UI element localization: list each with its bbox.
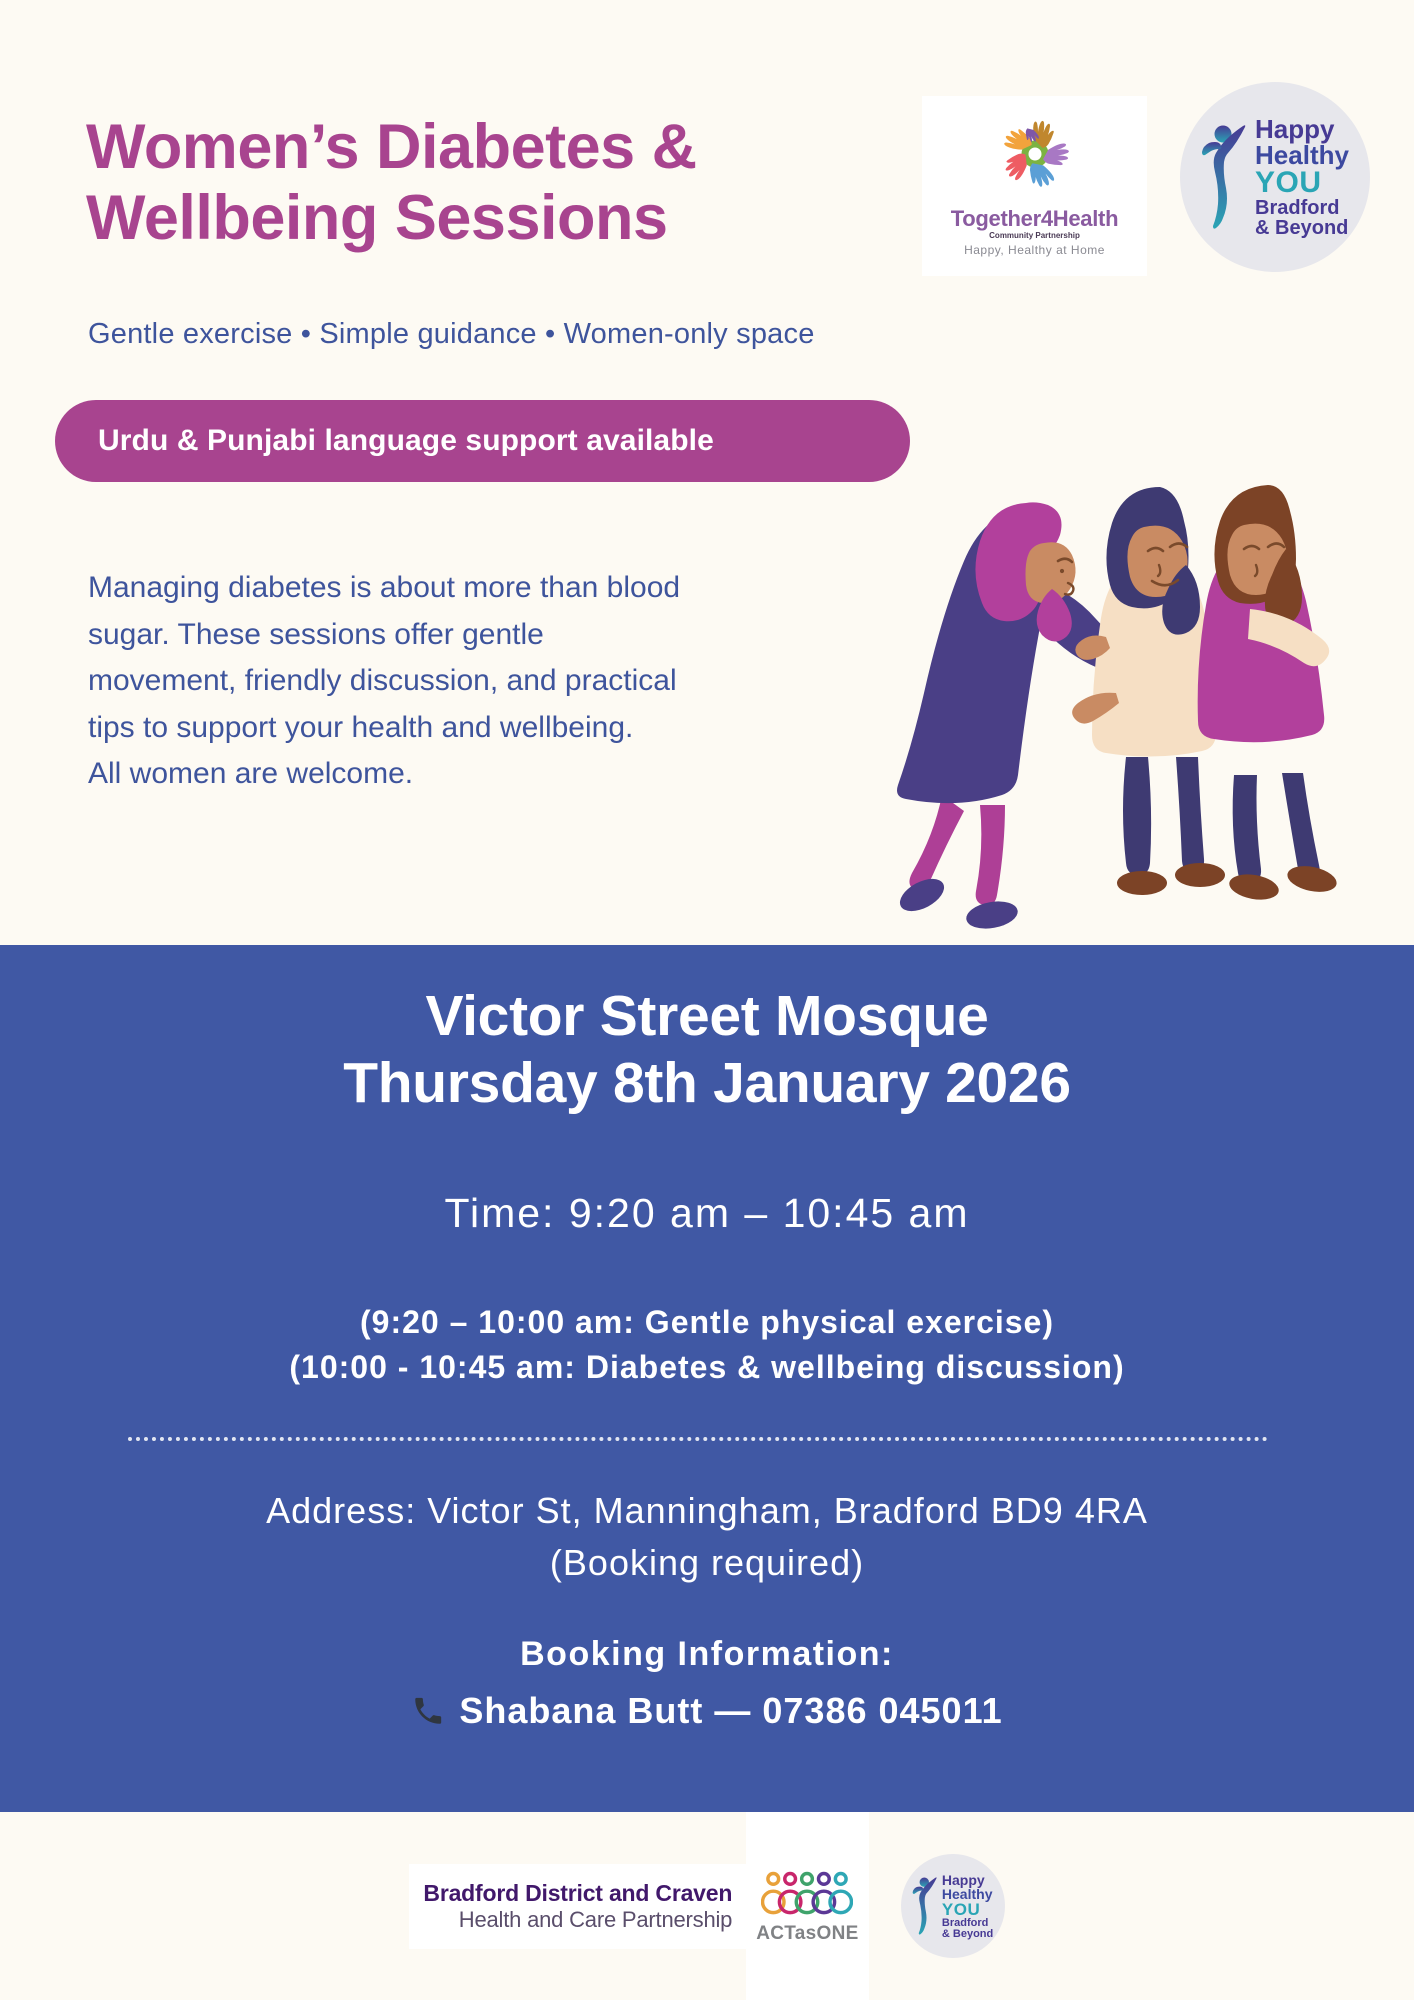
phone-icon <box>411 1694 445 1728</box>
happy-healthy-you-text-footer: Happy Healthy YOU Bradford & Beyond <box>942 1873 993 1940</box>
bdc-line-2: Health and Care Partnership <box>459 1907 732 1933</box>
event-date: Thursday 8th January 2026 <box>0 1050 1414 1117</box>
happy-healthy-you-logo: Happy Healthy YOU Bradford & Beyond <box>1180 82 1370 272</box>
event-booking-note: (Booking required) <box>0 1537 1414 1589</box>
event-venue: Victor Street Mosque <box>0 983 1414 1050</box>
together4health-logo: Together4Health Community Partnership Ha… <box>922 96 1147 276</box>
hhy-footer-line-bradford: Bradford <box>942 1918 993 1929</box>
event-time: Time: 9:20 am – 10:45 am <box>0 1190 1414 1237</box>
together4health-name: Together4Health <box>951 206 1118 232</box>
hhy-line-happy: Happy <box>1255 116 1349 142</box>
page-subtitle: Gentle exercise • Simple guidance • Wome… <box>88 318 815 351</box>
body-line-4: tips to support your health and wellbein… <box>88 705 878 752</box>
booking-contact-text: Shabana Butt — 07386 045011 <box>459 1690 1002 1732</box>
language-support-badge-label: Urdu & Punjabi language support availabl… <box>98 424 714 458</box>
hhy-line-beyond: & Beyond <box>1255 218 1349 238</box>
footer-logos: Bradford District and Craven Health and … <box>0 1812 1414 2000</box>
event-session-2: (10:00 - 10:45 am: Diabetes & wellbeing … <box>0 1345 1414 1390</box>
hhy-line-bradford: Bradford <box>1255 198 1349 218</box>
hhy-footer-line-happy: Happy <box>942 1873 993 1887</box>
page-title-line-2: Wellbeing Sessions <box>86 183 846 254</box>
person-reaching-up-icon-footer <box>912 1875 941 1937</box>
phone-handset-glyph <box>411 1694 445 1728</box>
hhy-footer-line-beyond: & Beyond <box>942 1929 993 1940</box>
body-line-2: sugar. These sessions offer gentle <box>88 612 878 659</box>
together4health-tagline: Happy, Healthy at Home <box>964 243 1105 257</box>
page-title: Women’s Diabetes & Wellbeing Sessions <box>86 112 846 253</box>
hhy-line-you: YOU <box>1255 168 1349 198</box>
booking-information-title: Booking Information: <box>0 1635 1414 1674</box>
body-line-3: movement, friendly discussion, and pract… <box>88 658 878 705</box>
top-section: Women’s Diabetes & Wellbeing Sessions Ge… <box>0 0 1414 945</box>
together4health-subtitle: Community Partnership <box>989 231 1080 240</box>
hhy-footer-line-you: YOU <box>942 1901 993 1918</box>
three-women-embracing-illustration <box>830 375 1350 945</box>
event-session-1: (9:20 – 10:00 am: Gentle physical exerci… <box>0 1300 1414 1345</box>
body-line-5: All women are welcome. <box>88 751 878 798</box>
actasone-logo: ACTasONE <box>746 1812 868 2000</box>
actasone-label: ACTasONE <box>756 1923 858 1945</box>
event-venue-and-date: Victor Street Mosque Thursday 8th Januar… <box>0 983 1414 1118</box>
booking-contact-row: Shabana Butt — 07386 045011 <box>0 1690 1414 1732</box>
poster: Women’s Diabetes & Wellbeing Sessions Ge… <box>0 0 1414 2000</box>
event-address: Address: Victor St, Manningham, Bradford… <box>0 1485 1414 1537</box>
colored-hands-circle-icon <box>980 104 1090 204</box>
bradford-district-craven-logo: Bradford District and Craven Health and … <box>409 1864 746 1949</box>
body-description: Managing diabetes is about more than blo… <box>88 565 878 798</box>
bdc-line-1: Bradford District and Craven <box>423 1880 732 1907</box>
happy-healthy-you-text: Happy Healthy YOU Bradford & Beyond <box>1255 116 1349 238</box>
event-details-section: Victor Street Mosque Thursday 8th Januar… <box>0 945 1414 1812</box>
five-people-rings-icon <box>761 1869 853 1921</box>
happy-healthy-you-logo-footer: Happy Healthy YOU Bradford & Beyond <box>901 1854 1005 1958</box>
hhy-footer-line-healthy: Healthy <box>942 1887 993 1901</box>
event-address-block: Address: Victor St, Manningham, Bradford… <box>0 1485 1414 1589</box>
event-session-breakdown: (9:20 – 10:00 am: Gentle physical exerci… <box>0 1300 1414 1391</box>
dotted-divider <box>128 1437 1268 1445</box>
person-reaching-up-icon <box>1201 121 1253 233</box>
page-title-line-1: Women’s Diabetes & <box>86 112 846 183</box>
language-support-badge: Urdu & Punjabi language support availabl… <box>55 400 910 482</box>
hhy-line-healthy: Healthy <box>1255 142 1349 168</box>
body-line-1: Managing diabetes is about more than blo… <box>88 565 878 612</box>
